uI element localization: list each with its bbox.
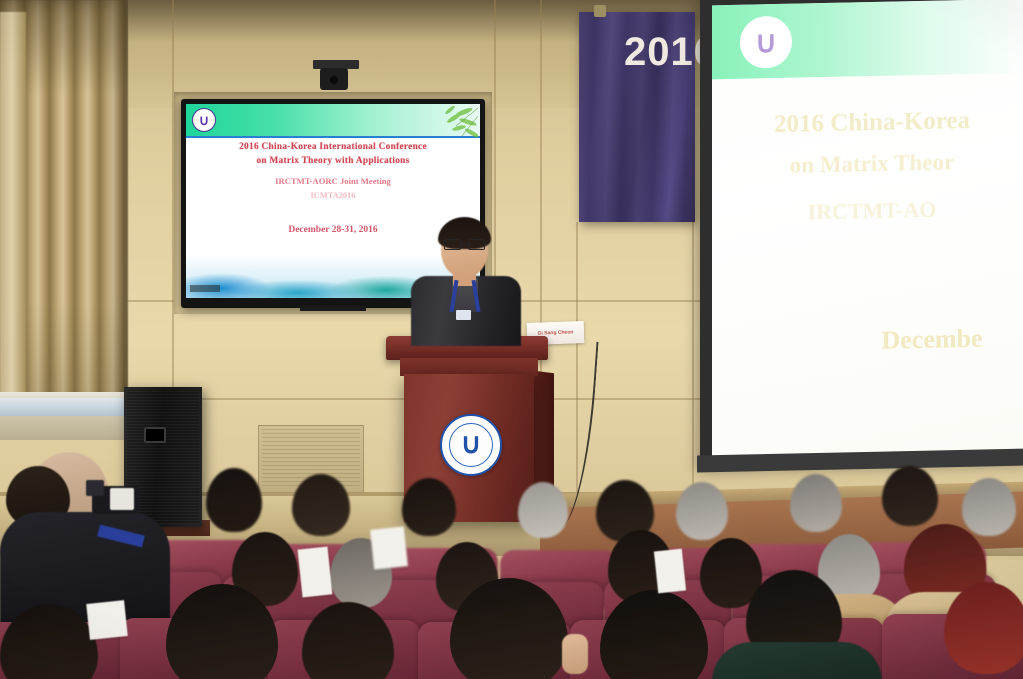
speaker-handle-icon [144, 427, 166, 443]
audience-head [676, 482, 728, 540]
bamboo-leaf-decoration-icon [406, 106, 478, 144]
slide-date: December 28-31, 2016 [186, 225, 480, 235]
projector-screen[interactable]: ∪ 2016 China-Korea on Matrix Theor IRCTM… [712, 0, 1023, 457]
auditorium-photo: ∪ 2016 China-Korea International Confere… [0, 0, 1023, 679]
projected-logo-glyph: ∪ [755, 24, 777, 59]
slide-text-block: 2016 China-Korea International Conferenc… [186, 140, 480, 235]
banner-clip-icon [594, 5, 606, 17]
audience-head [402, 478, 456, 536]
handout-paper [370, 526, 408, 569]
camera-lens-icon [86, 480, 104, 496]
vertical-banner: 2016 [579, 12, 695, 222]
photographer-hand [110, 488, 134, 510]
audience-hand [562, 634, 588, 674]
audience-head [790, 474, 842, 532]
eyeglasses-icon [444, 239, 485, 248]
tv-slide: ∪ 2016 China-Korea International Confere… [186, 104, 480, 298]
audience-shoulders [712, 642, 882, 679]
audience-head [292, 474, 350, 536]
camera-lens-icon [328, 74, 340, 86]
window-daylight [0, 398, 126, 416]
audience-head [882, 466, 938, 526]
audience-head [944, 582, 1023, 674]
conference-logo-icon: ∪ [192, 108, 216, 132]
slide-title-line2: on Matrix Theory with Applications [186, 154, 480, 168]
slide-title-line1: 2016 China-Korea International Conferenc… [186, 140, 480, 154]
audience-head [518, 482, 568, 538]
curtain-edge-panel [0, 12, 26, 432]
projected-subtitle: IRCTMT-AO [712, 189, 1023, 234]
tv-display[interactable]: ∪ 2016 China-Korea International Confere… [186, 104, 480, 298]
audience-head [206, 468, 262, 532]
audience-head [962, 478, 1016, 536]
projected-title-line2: on Matrix Theor [712, 141, 1023, 188]
projected-text-block: 2016 China-Korea on Matrix Theor IRCTMT-… [712, 99, 1023, 360]
slide-faded-line: ICMTA2016 [186, 189, 480, 203]
presenter-badge [456, 310, 471, 320]
handout-paper [654, 549, 686, 594]
projected-date: Decembe [712, 323, 1023, 360]
handout-paper [86, 600, 128, 640]
slide-subtitle: IRCTMT-AORC Joint Meeting [186, 174, 480, 189]
audience-area [0, 452, 1023, 679]
projected-title-line1: 2016 China-Korea [712, 99, 1023, 148]
logo-glyph: ∪ [199, 113, 209, 127]
handout-paper [298, 547, 333, 598]
tv-stand [300, 306, 366, 311]
tv-osd-indicator [190, 285, 220, 292]
